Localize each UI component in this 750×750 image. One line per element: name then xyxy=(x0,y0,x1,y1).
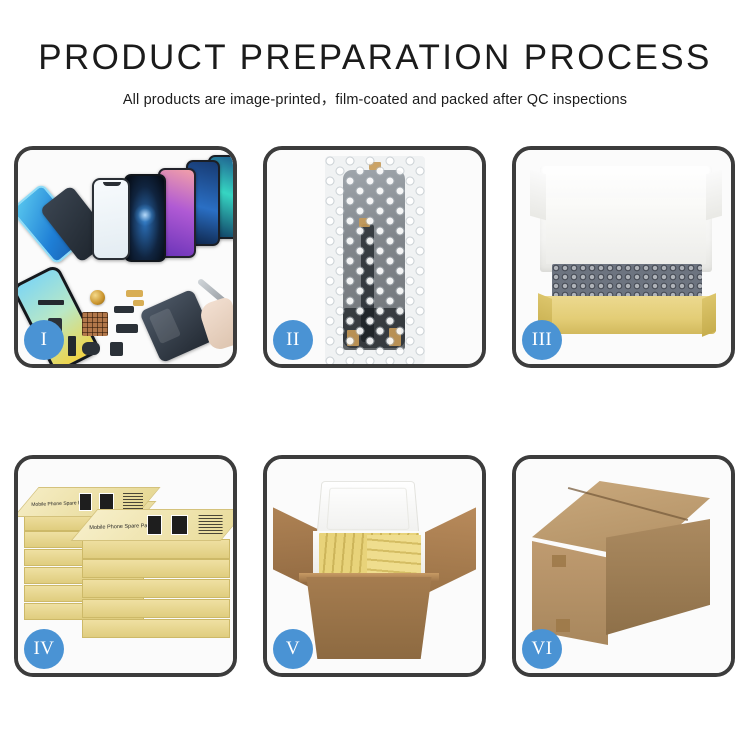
flex-cable-5 xyxy=(110,342,123,356)
carton-body-image xyxy=(301,577,437,659)
carton-right-face xyxy=(606,519,710,635)
process-step-grid: I II xyxy=(14,146,736,677)
bubble-texture xyxy=(325,156,425,364)
step-panel-1: I xyxy=(14,146,237,368)
gold-connector-1 xyxy=(126,290,143,297)
step-panel-6: VI xyxy=(512,455,735,677)
screw-grid-image xyxy=(82,312,108,336)
screen-protector-image xyxy=(92,178,130,260)
step-badge-4: IV xyxy=(24,629,64,669)
bubble-wrap-bag-image xyxy=(325,156,425,364)
flex-cable-4 xyxy=(82,342,100,355)
header: PRODUCT PREPARATION PROCESS All products… xyxy=(0,0,750,109)
step-panel-2: II xyxy=(263,146,486,368)
step-badge-2: II xyxy=(273,320,313,360)
flex-cable-3 xyxy=(116,324,138,333)
step-badge-3: III xyxy=(522,320,562,360)
page-subtitle: All products are image-printed，film-coat… xyxy=(0,88,750,109)
stacked-box-f0 xyxy=(82,539,230,559)
kraft-box-base-image xyxy=(538,296,716,334)
step-panel-4: Mobile Phone Spare Parts Mobile Phone Sp… xyxy=(14,455,237,677)
step-panel-3: III xyxy=(512,146,735,368)
step-panel-5: V xyxy=(263,455,486,677)
gold-connector-2 xyxy=(133,300,144,306)
box-spec-lines-front xyxy=(199,515,223,536)
stacked-box-f4 xyxy=(82,619,230,638)
stacked-box-f2 xyxy=(82,579,230,598)
black-phone-image xyxy=(124,174,166,262)
speaker-coil-image xyxy=(90,290,105,305)
foam-sheet-image xyxy=(546,198,706,264)
flex-cable-2 xyxy=(114,306,134,313)
stacked-box-f3 xyxy=(82,599,230,618)
box-swatch-b1 xyxy=(79,493,92,511)
carton-tape-lower xyxy=(556,619,570,632)
box-swatch-f2 xyxy=(171,515,188,535)
carton-tape-upper xyxy=(552,555,566,567)
component-bar-1 xyxy=(38,300,64,305)
step-badge-5: V xyxy=(273,629,313,669)
box-swatch-f1 xyxy=(147,515,162,535)
yellow-boxes-image-2 xyxy=(367,535,421,577)
box-lid-face-front: Mobile Phone Spare Parts xyxy=(71,509,237,541)
bubble-contents-image xyxy=(552,264,702,300)
page-title: PRODUCT PREPARATION PROCESS xyxy=(0,40,750,77)
component-bar-2 xyxy=(68,336,76,356)
box-label-text-front: Mobile Phone Spare Parts xyxy=(89,523,153,531)
product-preparation-infographic: PRODUCT PREPARATION PROCESS All products… xyxy=(0,0,750,750)
step-badge-6: VI xyxy=(522,629,562,669)
foam-lid-open-image xyxy=(316,481,419,538)
stacked-box-f1 xyxy=(82,559,230,578)
step-badge-1: I xyxy=(24,320,64,360)
